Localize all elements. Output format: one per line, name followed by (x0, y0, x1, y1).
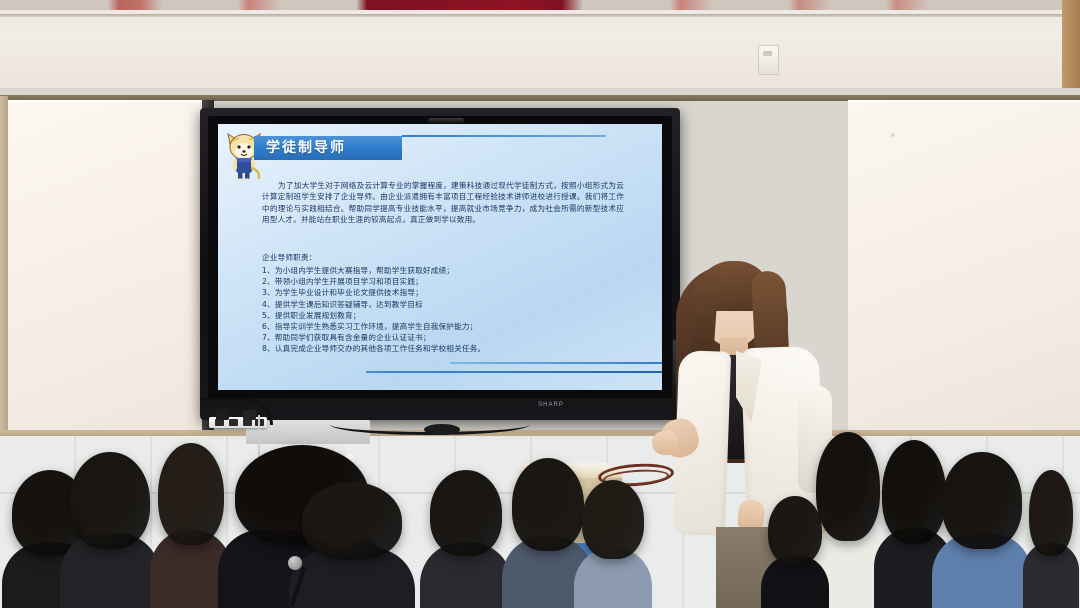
power-plug (243, 410, 256, 420)
power-plug (216, 409, 229, 420)
student-head (430, 470, 503, 556)
student-11 (930, 452, 1034, 608)
list-item: 5、提供职业发展规划教育； (262, 310, 634, 321)
list-item: 3、为学生毕业设计和毕业论文提供技术指导； (262, 287, 634, 298)
student-head (768, 496, 821, 565)
list-item: 6、指导实训学生熟悉实习工作环境，提高学生自我保护能力； (262, 321, 634, 332)
upper-wall (0, 10, 1080, 88)
slide-responsibility-list: 1、为小组内学生提供大赛指导，帮助学生获取好成绩； 2、带领小组内学生开展项目学… (262, 265, 634, 355)
student-head (70, 452, 149, 549)
list-item: 7、帮助同学们获取具有含金量的企业认证证书； (262, 332, 634, 343)
list-item: 1、为小组内学生提供大赛指导，帮助学生获取好成绩； (262, 265, 634, 276)
presentation-slide: 学徒制导师 为了加大学生对于网络及云计算专业的掌握程度，建策科技通过现代学徒制方… (218, 124, 662, 390)
slide-subheading: 企业导师职责： (262, 252, 624, 263)
slide-decor-line-top (450, 362, 662, 364)
student-head (1029, 470, 1073, 556)
list-item: 2、带领小组内学生开展项目学习和项目实践； (262, 276, 634, 287)
right-wood-column (1062, 0, 1080, 88)
whiteboard-right (848, 100, 1080, 445)
wall-switch-icon[interactable] (758, 45, 779, 75)
microphone-icon (288, 556, 302, 570)
list-item: 8、认真完成企业导师交办的其他各项工作任务和学校相关任务。 (262, 343, 634, 354)
student-2 (58, 452, 162, 608)
slide-title-rule (402, 135, 606, 137)
student-8 (572, 480, 654, 608)
whiteboard-scuff-mark (890, 132, 896, 138)
student-5 (286, 482, 418, 608)
classroom-photo-stage: SHARP (0, 0, 1080, 608)
cable-bundle (424, 424, 460, 435)
wall-seam-line (0, 14, 1080, 17)
left-wood-edge (0, 96, 8, 456)
student-12 (1022, 470, 1080, 608)
slide-decor-line-bottom (366, 371, 662, 373)
display-camera-icon (428, 118, 464, 123)
slide-title: 学徒制导师 (266, 138, 406, 159)
student-13 (760, 496, 830, 608)
student-head (582, 480, 644, 559)
display-brand-label: SHARP (524, 402, 578, 411)
presenter-hand-left (652, 431, 678, 455)
list-item: 4、提供学生课后知识答疑辅导，达到教学目标 (262, 299, 634, 310)
student-head (302, 482, 402, 560)
interactive-display[interactable]: SHARP (200, 108, 680, 420)
whiteboard-left (4, 100, 209, 436)
student-head (942, 452, 1021, 549)
slide-paragraph: 为了加大学生对于网络及云计算专业的掌握程度，建策科技通过现代学徒制方式，按照小组… (262, 180, 624, 226)
ceiling-red-banner (0, 0, 1080, 10)
